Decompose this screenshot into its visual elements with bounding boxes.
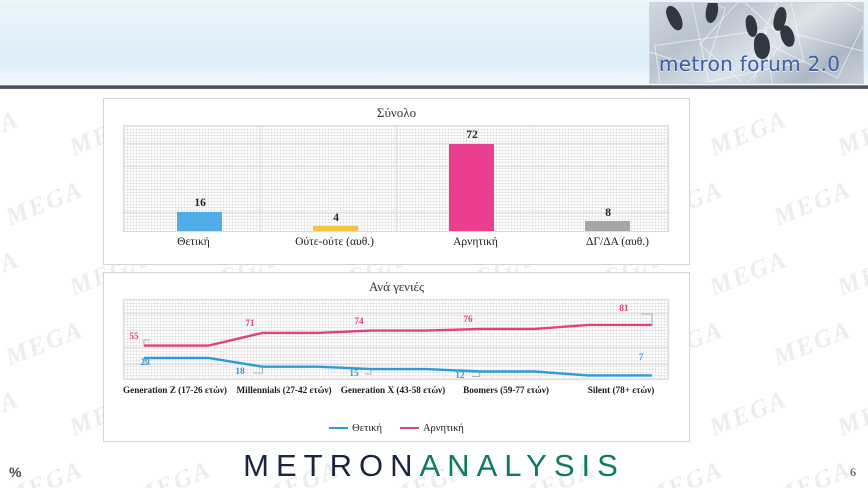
generation-label-genx: Generation X (43-58 ετών)	[339, 385, 447, 396]
point-label-negative-millennials: 71	[237, 318, 263, 328]
watermark-text: MEGA	[706, 106, 792, 163]
watermark-text: MEGA	[834, 386, 868, 443]
category-label-dk-da: ΔΓ/ΔΑ (αυθ.)	[546, 236, 689, 248]
point-label-positive-millennials: 18	[227, 366, 253, 376]
category-label-neither: Ούτε-ούτε (αυθ.)	[264, 236, 405, 248]
metron-analysis-logo: METRONANALYSIS	[0, 448, 868, 484]
chart-title-generations: Ανά γενιές	[104, 279, 689, 295]
point-label-positive-genx: 15	[341, 368, 367, 378]
bar-value-neither: 4	[282, 212, 391, 224]
plot-area-generations: 55 71 74 76 81 29 18 15 12 7	[123, 299, 669, 380]
watermark-text: MEGA	[834, 246, 868, 303]
logo-text: metron forum 2.0	[659, 52, 840, 76]
bar-value-negative: 72	[418, 129, 527, 141]
bar-neither	[313, 226, 358, 231]
bar-negative	[449, 144, 494, 231]
category-label-positive: Θετική	[123, 236, 264, 248]
bar-dk-da	[585, 221, 630, 231]
legend-item-negative[interactable]: Αρνητική	[400, 423, 464, 434]
chart-panel-generations: Ανά γενιές 55 71 74 76 81 29 18	[103, 272, 690, 442]
brand-metron: METRON	[243, 448, 419, 483]
metron-forum-logo: metron forum 2.0	[649, 2, 864, 84]
generation-label-genz: Generation Z (17-26 ετών)	[121, 385, 229, 396]
watermark-text: MEGA	[0, 386, 24, 443]
point-label-negative-silent: 81	[611, 303, 637, 313]
generation-label-boomers: Boomers (59-77 ετών)	[448, 385, 564, 396]
generation-label-silent: Silent (78+ ετών)	[565, 385, 677, 396]
legend-label-positive: Θετική	[352, 423, 382, 434]
legend-label-negative: Αρνητική	[423, 423, 464, 434]
chart-title-total: Σύνολο	[104, 105, 689, 121]
watermark-text: MEGA	[770, 176, 856, 233]
brand-analysis: ANALYSIS	[420, 448, 625, 483]
watermark-text: MEGA	[0, 106, 24, 163]
bar-value-positive: 16	[146, 197, 255, 209]
chart-legend: Θετική Αρνητική	[104, 421, 689, 435]
bar-positive	[177, 212, 222, 231]
page-number: 6	[850, 465, 856, 480]
category-label-negative: Αρνητική	[405, 236, 546, 248]
legend-swatch-positive	[329, 427, 348, 430]
percent-symbol: %	[9, 464, 21, 480]
legend-item-positive[interactable]: Θετική	[329, 423, 382, 434]
bar-value-dk-da: 8	[554, 207, 663, 219]
plot-area-total: 16 4 72 8	[123, 125, 669, 232]
point-label-positive-silent: 7	[628, 352, 654, 362]
point-label-positive-boomers: 12	[447, 370, 473, 380]
watermark-text: MEGA	[834, 106, 868, 163]
generation-label-millennials: Millennials (27-42 ετών)	[230, 385, 338, 396]
header-divider	[0, 85, 868, 89]
line-series-svg	[124, 300, 668, 379]
point-label-negative-genz: 55	[121, 331, 147, 341]
point-label-negative-boomers: 76	[455, 314, 481, 324]
point-label-negative-genx: 74	[346, 316, 372, 326]
watermark-text: MEGA	[770, 316, 856, 373]
chart-panel-total: Σύνολο 16 4 72 8 Θετική Ούτε-ούτε (αυθ.)…	[103, 98, 690, 265]
watermark-text: MEGA	[706, 386, 792, 443]
point-label-positive-genz: 29	[132, 357, 158, 367]
watermark-text: MEGA	[2, 176, 88, 233]
legend-swatch-negative	[400, 427, 419, 430]
watermark-text: MEGA	[2, 316, 88, 373]
watermark-text: MEGA	[706, 246, 792, 303]
watermark-text: MEGA	[0, 246, 24, 303]
